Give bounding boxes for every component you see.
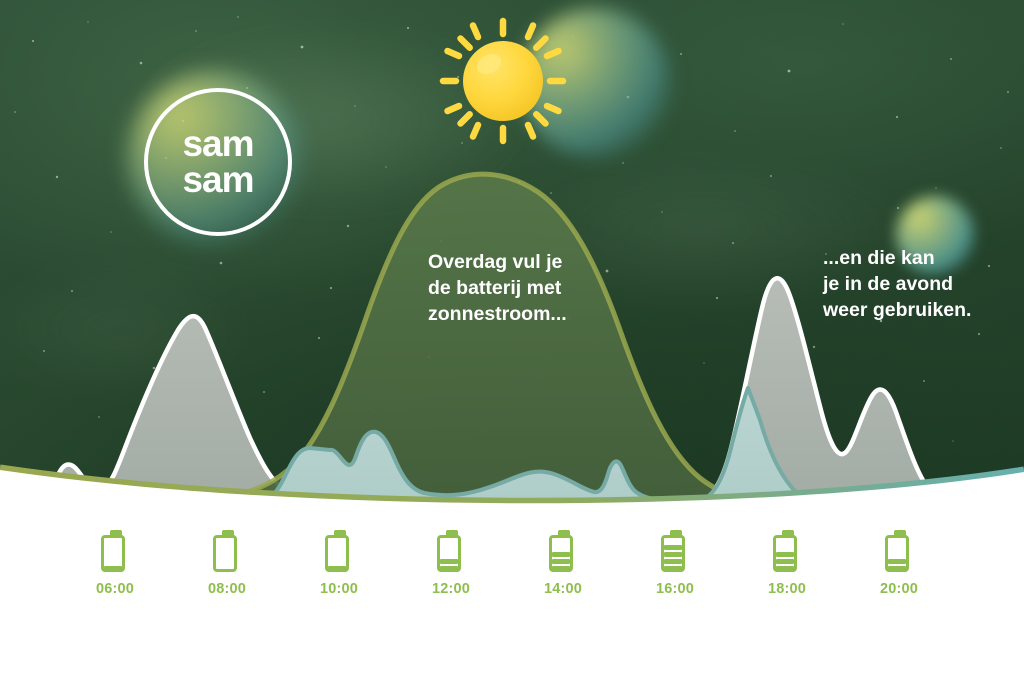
battery-cell-1800: 18:00 (732, 530, 842, 597)
battery-bars (104, 566, 122, 571)
battery-icon (437, 530, 465, 574)
infographic-canvas: sam sam Overdag vul je de batterij met z… (0, 0, 1024, 700)
battery-bar (552, 552, 570, 557)
battery-bar (664, 552, 682, 557)
battery-bar (888, 566, 906, 571)
battery-bar (552, 566, 570, 571)
battery-time-label: 10:00 (284, 581, 394, 597)
battery-bar (664, 559, 682, 564)
battery-time-label: 14:00 (508, 581, 618, 597)
battery-bar (440, 566, 458, 571)
battery-cell-1200: 12:00 (396, 530, 506, 597)
battery-bars (664, 545, 682, 571)
callout-evening-line-2: je in de avond (823, 272, 971, 298)
callout-daytime-line-1: Overdag vul je (428, 250, 567, 276)
battery-time-label: 06:00 (60, 581, 170, 597)
callout-daytime-line-2: de batterij met (428, 276, 567, 302)
battery-icon (549, 530, 577, 574)
logo-line-1: sam (182, 126, 253, 162)
callout-daytime-line-3: zonnestroom... (428, 302, 567, 328)
battery-cell-2000: 20:00 (844, 530, 954, 597)
callout-evening: ...en die kan je in de avond weer gebrui… (823, 246, 971, 324)
battery-cell-1600: 16:00 (620, 530, 730, 597)
battery-bars (328, 566, 346, 571)
battery-bar (776, 566, 794, 571)
battery-body (213, 535, 237, 572)
battery-icon (101, 530, 129, 574)
battery-time-label: 18:00 (732, 581, 842, 597)
battery-bars (888, 559, 906, 571)
battery-icon (661, 530, 689, 574)
battery-cell-0600: 06:00 (60, 530, 170, 597)
battery-icon (773, 530, 801, 574)
battery-time-label: 16:00 (620, 581, 730, 597)
battery-bars (776, 552, 794, 571)
battery-icon (325, 530, 353, 574)
battery-cell-1000: 10:00 (284, 530, 394, 597)
battery-icon (885, 530, 913, 574)
battery-bar (776, 559, 794, 564)
battery-icon (213, 530, 241, 574)
battery-timeline: 06:0008:0010:0012:0014:0016:0018:0020:00 (0, 530, 1024, 620)
battery-bar (328, 566, 346, 571)
battery-cell-1400: 14:00 (508, 530, 618, 597)
battery-bar (440, 559, 458, 564)
battery-bar (664, 566, 682, 571)
logo-line-2: sam (182, 162, 253, 198)
battery-time-label: 08:00 (172, 581, 282, 597)
battery-bar (104, 566, 122, 571)
battery-bar (888, 559, 906, 564)
battery-bars (552, 552, 570, 571)
battery-bar (552, 559, 570, 564)
callout-evening-line-1: ...en die kan (823, 246, 971, 272)
battery-bar (664, 545, 682, 550)
callout-evening-line-3: weer gebruiken. (823, 298, 971, 324)
battery-time-label: 20:00 (844, 581, 954, 597)
footer-panel: 06:0008:0010:0012:0014:0016:0018:0020:00… (0, 520, 1024, 700)
battery-bar (776, 552, 794, 557)
battery-bars (440, 559, 458, 571)
samsam-logo[interactable]: sam sam (144, 88, 292, 236)
callout-daytime: Overdag vul je de batterij met zonnestro… (428, 250, 567, 328)
battery-time-label: 12:00 (396, 581, 506, 597)
battery-cell-0800: 08:00 (172, 530, 282, 597)
